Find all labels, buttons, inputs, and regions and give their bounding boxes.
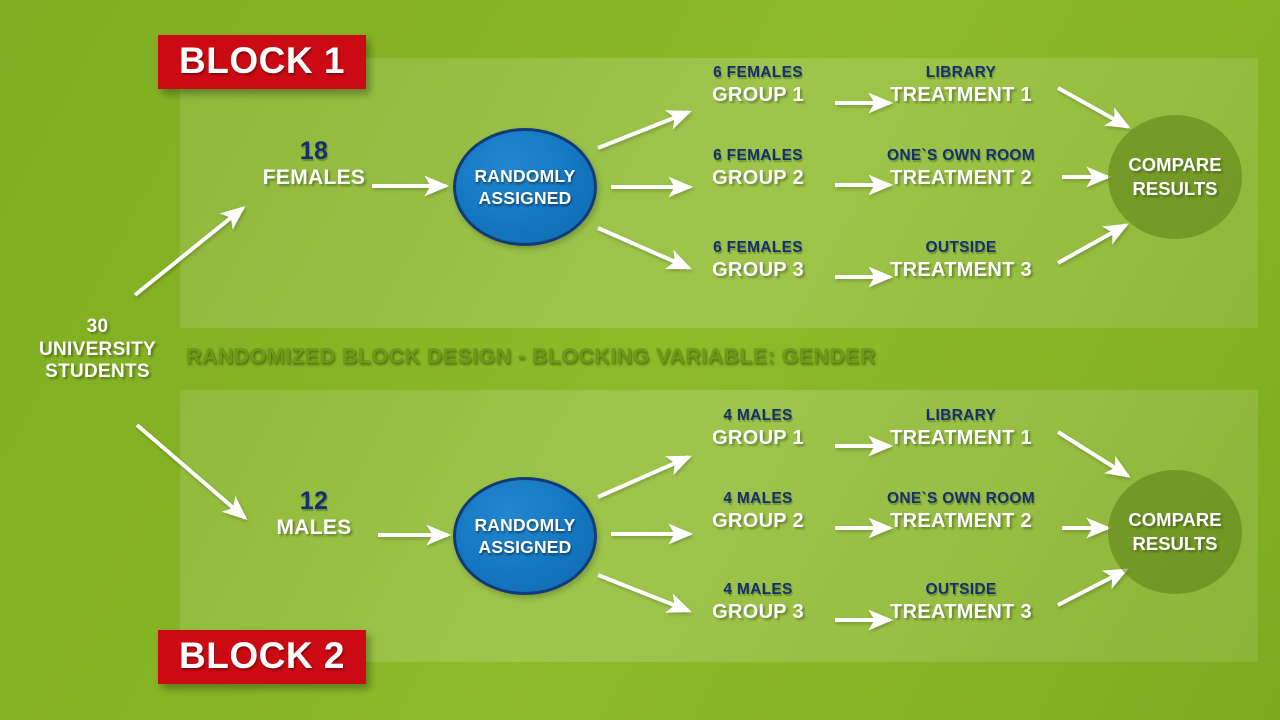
block-1-group-2-cell: 6 FEMALES GROUP 2: [663, 147, 853, 190]
block-2-compare-results-node: COMPARE RESULTS: [1108, 470, 1242, 594]
block-1-group-2-name: GROUP 2: [663, 167, 853, 189]
block-1-group-3-size: 6 FEMALES: [663, 239, 853, 256]
block-1-treatment-1-name: TREATMENT 1: [836, 84, 1086, 106]
root-population-label: 30 UNIVERSITY STUDENTS: [10, 316, 185, 384]
block-1-setting-2: ONE`S OWN ROOM: [836, 147, 1086, 164]
block-2-randomly-assigned-node: RANDOMLY ASSIGNED: [453, 477, 597, 595]
block-1-stem-label: 18 FEMALES: [224, 138, 404, 189]
block-1-tag: BLOCK 1: [158, 35, 366, 89]
design-banner-caption: RANDOMIZED BLOCK DESIGN - BLOCKING VARIA…: [186, 344, 1246, 369]
block-2-group-1-name: GROUP 1: [663, 427, 853, 449]
block-1-treatment-2-cell: ONE`S OWN ROOM TREATMENT 2: [836, 147, 1086, 190]
block-2-treatment-3-name: TREATMENT 3: [836, 601, 1086, 623]
block-2-setting-2: ONE`S OWN ROOM: [836, 490, 1086, 507]
block-1-group-3-cell: 6 FEMALES GROUP 3: [663, 239, 853, 282]
block-1-treatment-3-name: TREATMENT 3: [836, 259, 1086, 281]
diagram-canvas: BLOCK 1 BLOCK 2 30 UNIVERSITY STUDENTS 1…: [0, 0, 1280, 720]
block-2-stem-count: 12: [224, 488, 404, 514]
root-count: 30: [10, 316, 185, 339]
block-1-treatment-2-name: TREATMENT 2: [836, 167, 1086, 189]
block-1-randomizer-line-1: RANDOMLY: [474, 165, 575, 187]
block-2-group-2-cell: 4 MALES GROUP 2: [663, 490, 853, 533]
block-2-treatment-3-cell: OUTSIDE TREATMENT 3: [836, 581, 1086, 624]
block-2-group-3-size: 4 MALES: [663, 581, 853, 598]
root-line-3: STUDENTS: [45, 361, 150, 382]
block-1-group-1-name: GROUP 1: [663, 84, 853, 106]
block-1-group-1-cell: 6 FEMALES GROUP 1: [663, 64, 853, 107]
block-2-group-3-name: GROUP 3: [663, 601, 853, 623]
block-1-compare-line-1: COMPARE: [1128, 153, 1221, 177]
block-1-compare-line-2: RESULTS: [1133, 177, 1218, 201]
block-2-treatment-1-name: TREATMENT 1: [836, 427, 1086, 449]
block-2-group-2-name: GROUP 2: [663, 510, 853, 532]
block-2-stem-word: MALES: [224, 517, 404, 539]
block-2-setting-3: OUTSIDE: [836, 581, 1086, 598]
block-1-randomly-assigned-node: RANDOMLY ASSIGNED: [453, 128, 597, 246]
root-line-2: UNIVERSITY: [39, 339, 156, 360]
block-2-group-3-cell: 4 MALES GROUP 3: [663, 581, 853, 624]
block-2-treatment-1-cell: LIBRARY TREATMENT 1: [836, 407, 1086, 450]
block-2-group-1-size: 4 MALES: [663, 407, 853, 424]
block-1-stem-count: 18: [224, 138, 404, 164]
block-2-group-1-cell: 4 MALES GROUP 1: [663, 407, 853, 450]
block-2-tag: BLOCK 2: [158, 630, 366, 684]
block-1-group-1-size: 6 FEMALES: [663, 64, 853, 81]
block-1-compare-results-node: COMPARE RESULTS: [1108, 115, 1242, 239]
block-1-randomizer-line-2: ASSIGNED: [478, 187, 571, 209]
block-1-group-3-name: GROUP 3: [663, 259, 853, 281]
block-1-group-2-size: 6 FEMALES: [663, 147, 853, 164]
block-1-stem-word: FEMALES: [224, 167, 404, 189]
block-2-compare-line-1: COMPARE: [1128, 508, 1221, 532]
block-1-setting-3: OUTSIDE: [836, 239, 1086, 256]
block-2-setting-1: LIBRARY: [836, 407, 1086, 424]
block-2-treatment-2-cell: ONE`S OWN ROOM TREATMENT 2: [836, 490, 1086, 533]
block-2-group-2-size: 4 MALES: [663, 490, 853, 507]
block-2-randomizer-line-2: ASSIGNED: [478, 536, 571, 558]
block-1-treatment-3-cell: OUTSIDE TREATMENT 3: [836, 239, 1086, 282]
block-2-treatment-2-name: TREATMENT 2: [836, 510, 1086, 532]
block-1-setting-1: LIBRARY: [836, 64, 1086, 81]
block-2-randomizer-line-1: RANDOMLY: [474, 514, 575, 536]
block-2-compare-line-2: RESULTS: [1133, 532, 1218, 556]
block-1-treatment-1-cell: LIBRARY TREATMENT 1: [836, 64, 1086, 107]
block-2-stem-label: 12 MALES: [224, 488, 404, 539]
